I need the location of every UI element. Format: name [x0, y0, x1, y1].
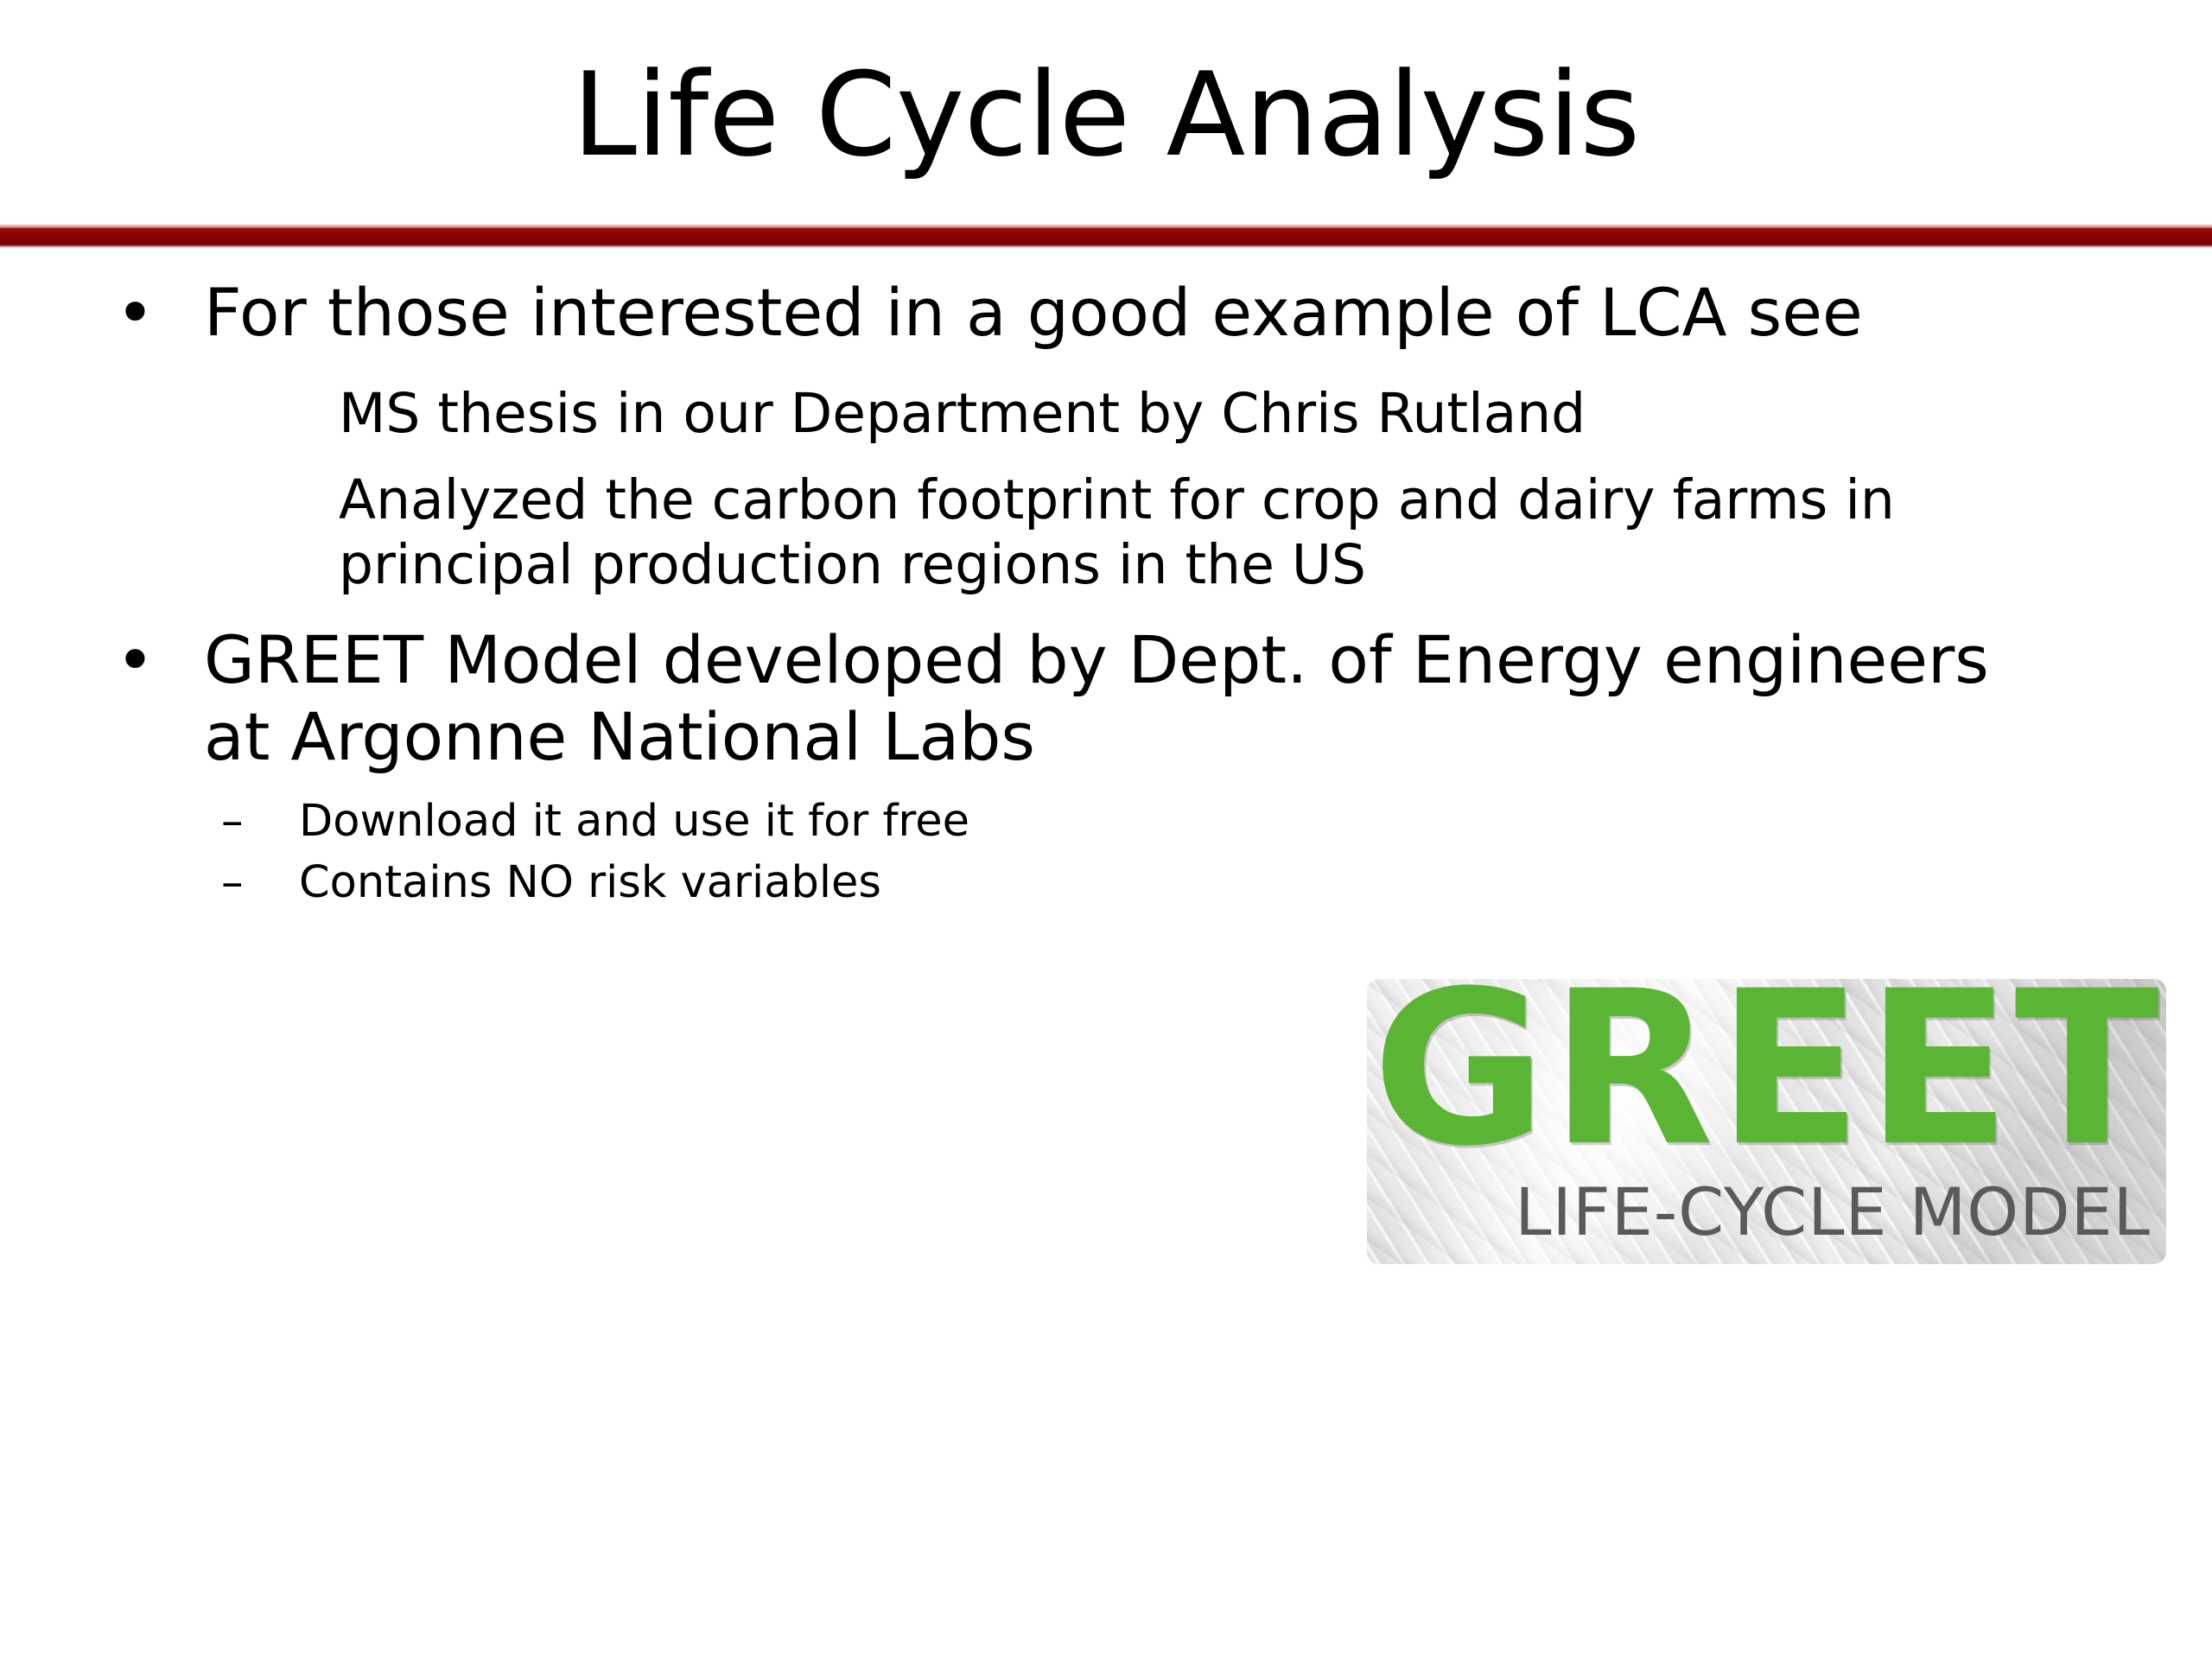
bullet-text: Download it and use it for free: [299, 796, 969, 847]
divider-bottom-fade: [0, 245, 2212, 248]
bullet-marker-dash: –: [221, 795, 244, 848]
slide: Life Cycle Analysis • For those interest…: [0, 0, 2212, 1659]
bullet-marker-dot: •: [116, 275, 155, 352]
bullet-text: Contains NO risk variables: [299, 857, 881, 908]
divider-core: [0, 228, 2212, 245]
bullet-marker-dash: –: [221, 856, 244, 909]
bullet-item-sub: MS thesis in our Department by Chris Rut…: [0, 381, 2212, 447]
title-divider-rule: [0, 224, 2212, 248]
greet-logo-image: GREET LIFE-CYCLE MODEL: [1367, 979, 2166, 1264]
bullet-marker-dot: •: [116, 622, 155, 699]
greet-tagline: LIFE-CYCLE MODEL: [1515, 1179, 2151, 1245]
bullet-text: Analyzed the carbon footprint for crop a…: [339, 468, 1895, 597]
bullet-text: MS thesis in our Department by Chris Rut…: [339, 382, 1586, 445]
bullet-item-sub: Analyzed the carbon footprint for crop a…: [0, 467, 2212, 598]
bullet-item-primary: • GREET Model developed by Dept. of Ener…: [0, 622, 2212, 776]
page-title: Life Cycle Analysis: [0, 41, 2212, 190]
bullet-text: GREET Model developed by Dept. of Energy…: [204, 621, 1989, 775]
slide-body: • For those interested in a good example…: [0, 275, 2212, 909]
bullet-item-primary: • For those interested in a good example…: [0, 275, 2212, 352]
bullet-item-dash: – Download it and use it for free: [0, 795, 2212, 848]
bullet-text: For those interested in a good example o…: [204, 274, 1863, 351]
bullet-item-dash: – Contains NO risk variables: [0, 856, 2212, 909]
greet-wordmark: GREET: [1372, 979, 2150, 1176]
